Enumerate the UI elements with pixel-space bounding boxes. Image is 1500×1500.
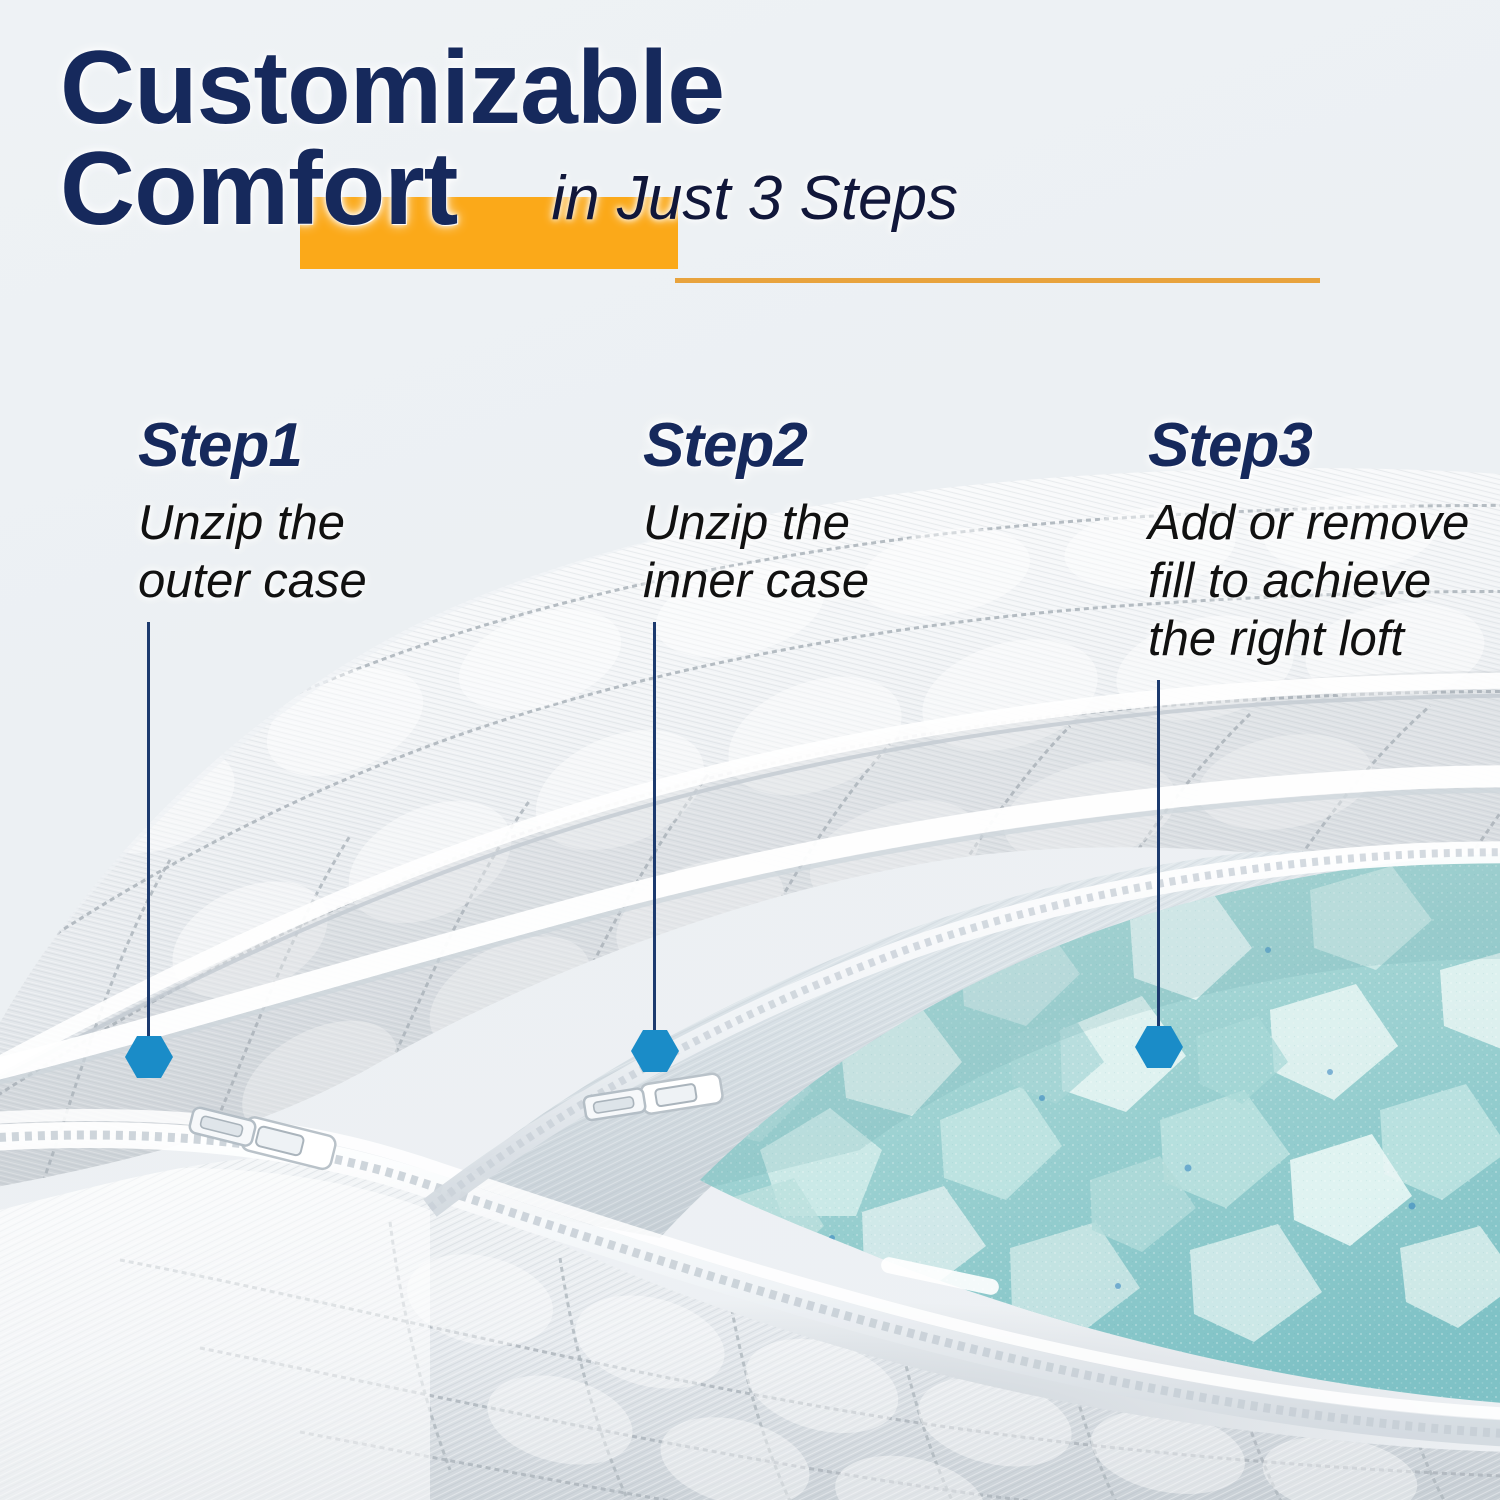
headline-subtitle: in Just 3 Steps xyxy=(551,163,958,234)
step-3-title: Step3 xyxy=(1148,415,1500,477)
step-2-title: Step2 xyxy=(643,415,869,477)
headline-line-1: Customizable xyxy=(60,38,1460,139)
step-1: Step1 Unzip the outer case xyxy=(138,415,367,611)
step-3: Step3 Add or remove fill to achieve the … xyxy=(1148,415,1500,668)
headline-block: Customizable Comfort in Just 3 Steps xyxy=(60,38,1460,240)
headline-line-2: Comfort xyxy=(60,139,457,240)
step-3-description: Add or remove fill to achieve the right … xyxy=(1148,495,1500,668)
step-2: Step2 Unzip the inner case xyxy=(643,415,869,611)
step-3-leader-line xyxy=(1157,680,1160,1030)
step-1-description: Unzip the outer case xyxy=(138,495,367,611)
infographic-canvas: Customizable Comfort in Just 3 Steps Ste… xyxy=(0,0,1500,1500)
step-2-description: Unzip the inner case xyxy=(643,495,869,611)
step-1-leader-line xyxy=(147,622,150,1040)
step-2-leader-line xyxy=(653,622,656,1034)
headline-underline-rule xyxy=(675,278,1320,283)
step-1-title: Step1 xyxy=(138,415,367,477)
